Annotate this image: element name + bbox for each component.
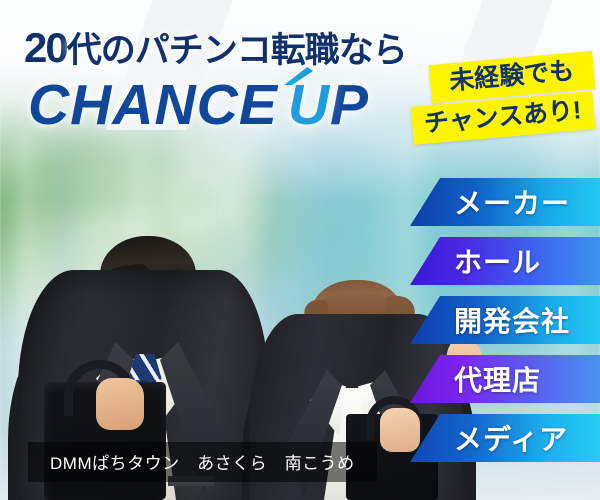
- headline-rest: 代のパチンコ転職なら: [67, 31, 407, 70]
- category-label-development-company: 開発会社: [454, 300, 570, 340]
- category-button-agency[interactable]: 代理店: [410, 355, 600, 403]
- logo-up-text: U: [288, 73, 330, 137]
- credits-caption: DMMぱちタウン あさくら 南こうめ: [28, 442, 377, 482]
- category-button-stack: メーカー ホール 開発会社 代理店 メディア: [410, 178, 600, 473]
- logo-p-letter: P: [330, 73, 369, 137]
- recruitment-banner: 20代のパチンコ転職なら CHANCEUP 未経験でも チャンスあり! メーカー…: [0, 0, 600, 500]
- category-button-maker[interactable]: メーカー: [410, 178, 600, 226]
- chance-up-logo: CHANCEUP: [28, 72, 369, 138]
- category-label-agency: 代理店: [454, 359, 541, 399]
- category-button-media[interactable]: メディア: [410, 414, 600, 462]
- headline-number: 20: [24, 24, 67, 71]
- category-label-media: メディア: [454, 418, 568, 458]
- category-label-hall: ホール: [454, 241, 541, 281]
- man-hand: [96, 378, 144, 430]
- headline-text: 20代のパチンコ転職なら: [24, 22, 407, 73]
- category-button-development-company[interactable]: 開発会社: [410, 296, 600, 344]
- category-label-maker: メーカー: [454, 182, 570, 222]
- promo-badges: 未経験でも チャンスあり!: [412, 58, 594, 136]
- category-button-hall[interactable]: ホール: [410, 237, 600, 285]
- logo-chance-text: CHANCE: [28, 73, 278, 137]
